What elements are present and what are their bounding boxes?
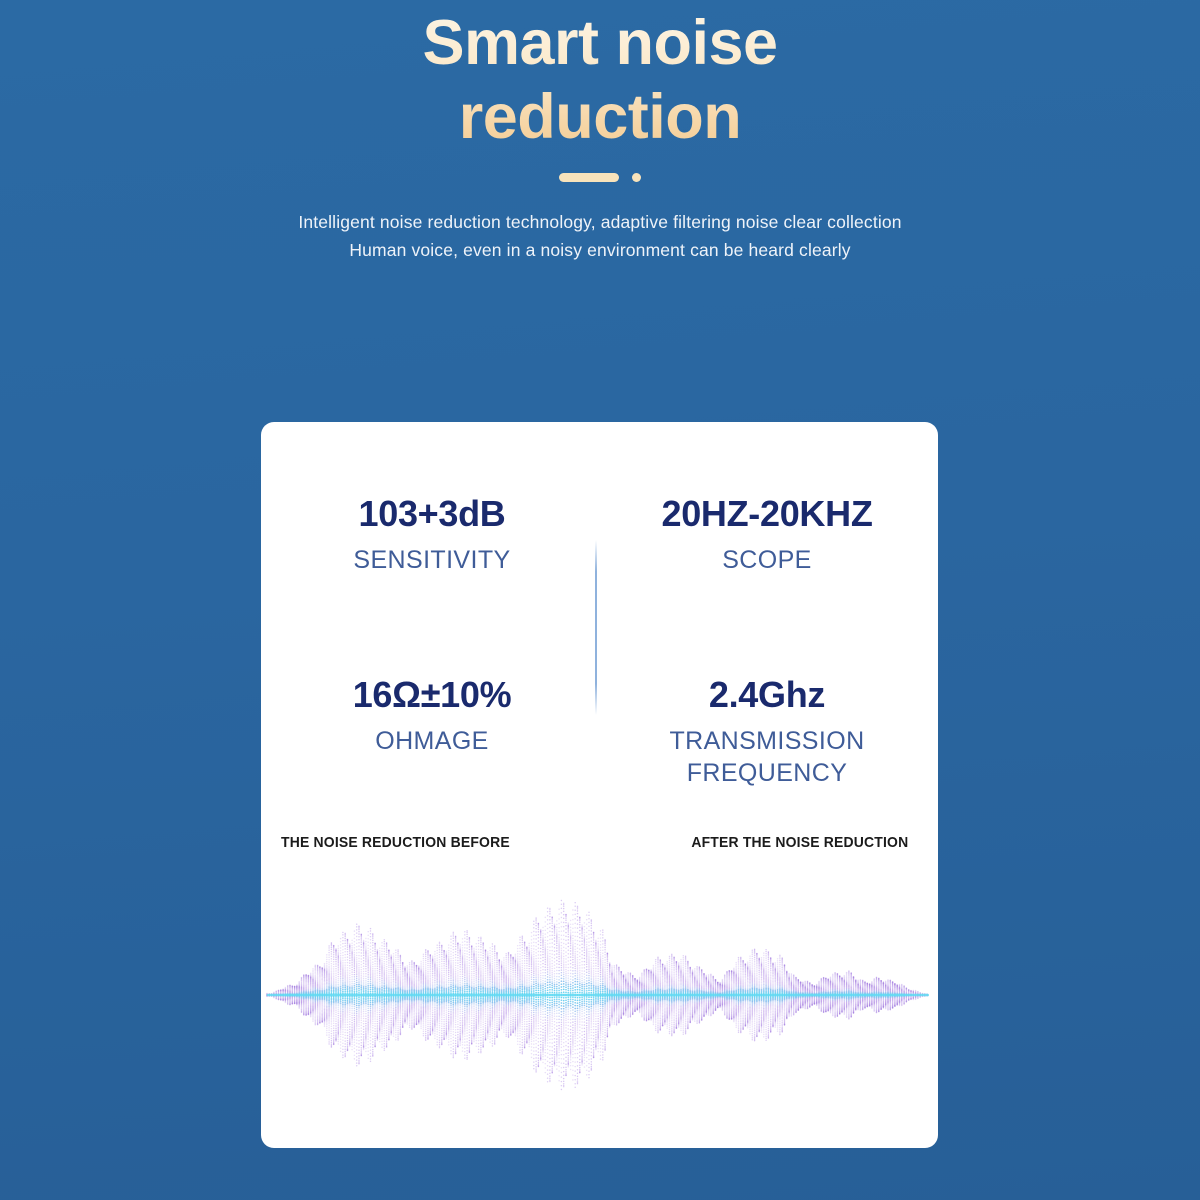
spec-label: SENSITIVITY — [277, 544, 587, 576]
page-title: Smart noise reduction — [0, 0, 1200, 155]
spec-value: 20HZ-20KHZ — [612, 494, 922, 534]
spec-grid: 103+3dB SENSITIVITY 20HZ-20KHZ SCOPE 16Ω… — [261, 422, 938, 822]
waveform-graphic — [261, 877, 938, 1112]
spec-label-line-1: SENSITIVITY — [353, 546, 510, 574]
spec-label-line-1: TRANSMISSION — [669, 727, 864, 755]
spec-value: 103+3dB — [277, 494, 587, 534]
spec-column-divider — [595, 540, 597, 715]
spec-item-sensitivity: 103+3dB SENSITIVITY — [277, 494, 587, 576]
hero-divider — [0, 173, 1200, 182]
hero-subtitle: Intelligent noise reduction technology, … — [0, 182, 1200, 265]
spec-label-line-2: FREQUENCY — [612, 757, 922, 789]
title-line-2: reduction — [459, 82, 742, 152]
divider-dash-icon — [559, 173, 619, 182]
subtitle-line-1: Intelligent noise reduction technology, … — [0, 208, 1200, 236]
spec-card: 103+3dB SENSITIVITY 20HZ-20KHZ SCOPE 16Ω… — [261, 422, 938, 1148]
spec-label-line-1: SCOPE — [722, 546, 812, 574]
subtitle-line-2: Human voice, even in a noisy environment… — [0, 236, 1200, 264]
spec-item-scope: 20HZ-20KHZ SCOPE — [612, 494, 922, 576]
waveform-captions: THE NOISE REDUCTION BEFORE AFTER THE NOI… — [261, 834, 938, 864]
spec-item-ohmage: 16Ω±10% OHMAGE — [277, 675, 587, 757]
caption-noise-after: AFTER THE NOISE REDUCTION — [691, 834, 908, 851]
spec-label: SCOPE — [612, 544, 922, 576]
title-line-1: Smart noise — [422, 8, 777, 78]
spec-value: 16Ω±10% — [277, 675, 587, 715]
caption-noise-before: THE NOISE REDUCTION BEFORE — [281, 834, 510, 851]
page-root: Smart noise reduction Intelligent noise … — [0, 0, 1200, 1200]
spec-label: OHMAGE — [277, 725, 587, 757]
spec-label: TRANSMISSION FREQUENCY — [612, 725, 922, 789]
spec-item-transmission-frequency: 2.4Ghz TRANSMISSION FREQUENCY — [612, 675, 922, 789]
spec-label-line-1: OHMAGE — [375, 727, 489, 755]
spec-value: 2.4Ghz — [612, 675, 922, 715]
hero-section: Smart noise reduction Intelligent noise … — [0, 0, 1200, 264]
divider-dot-icon — [632, 173, 641, 182]
waveform-svg — [261, 877, 938, 1112]
